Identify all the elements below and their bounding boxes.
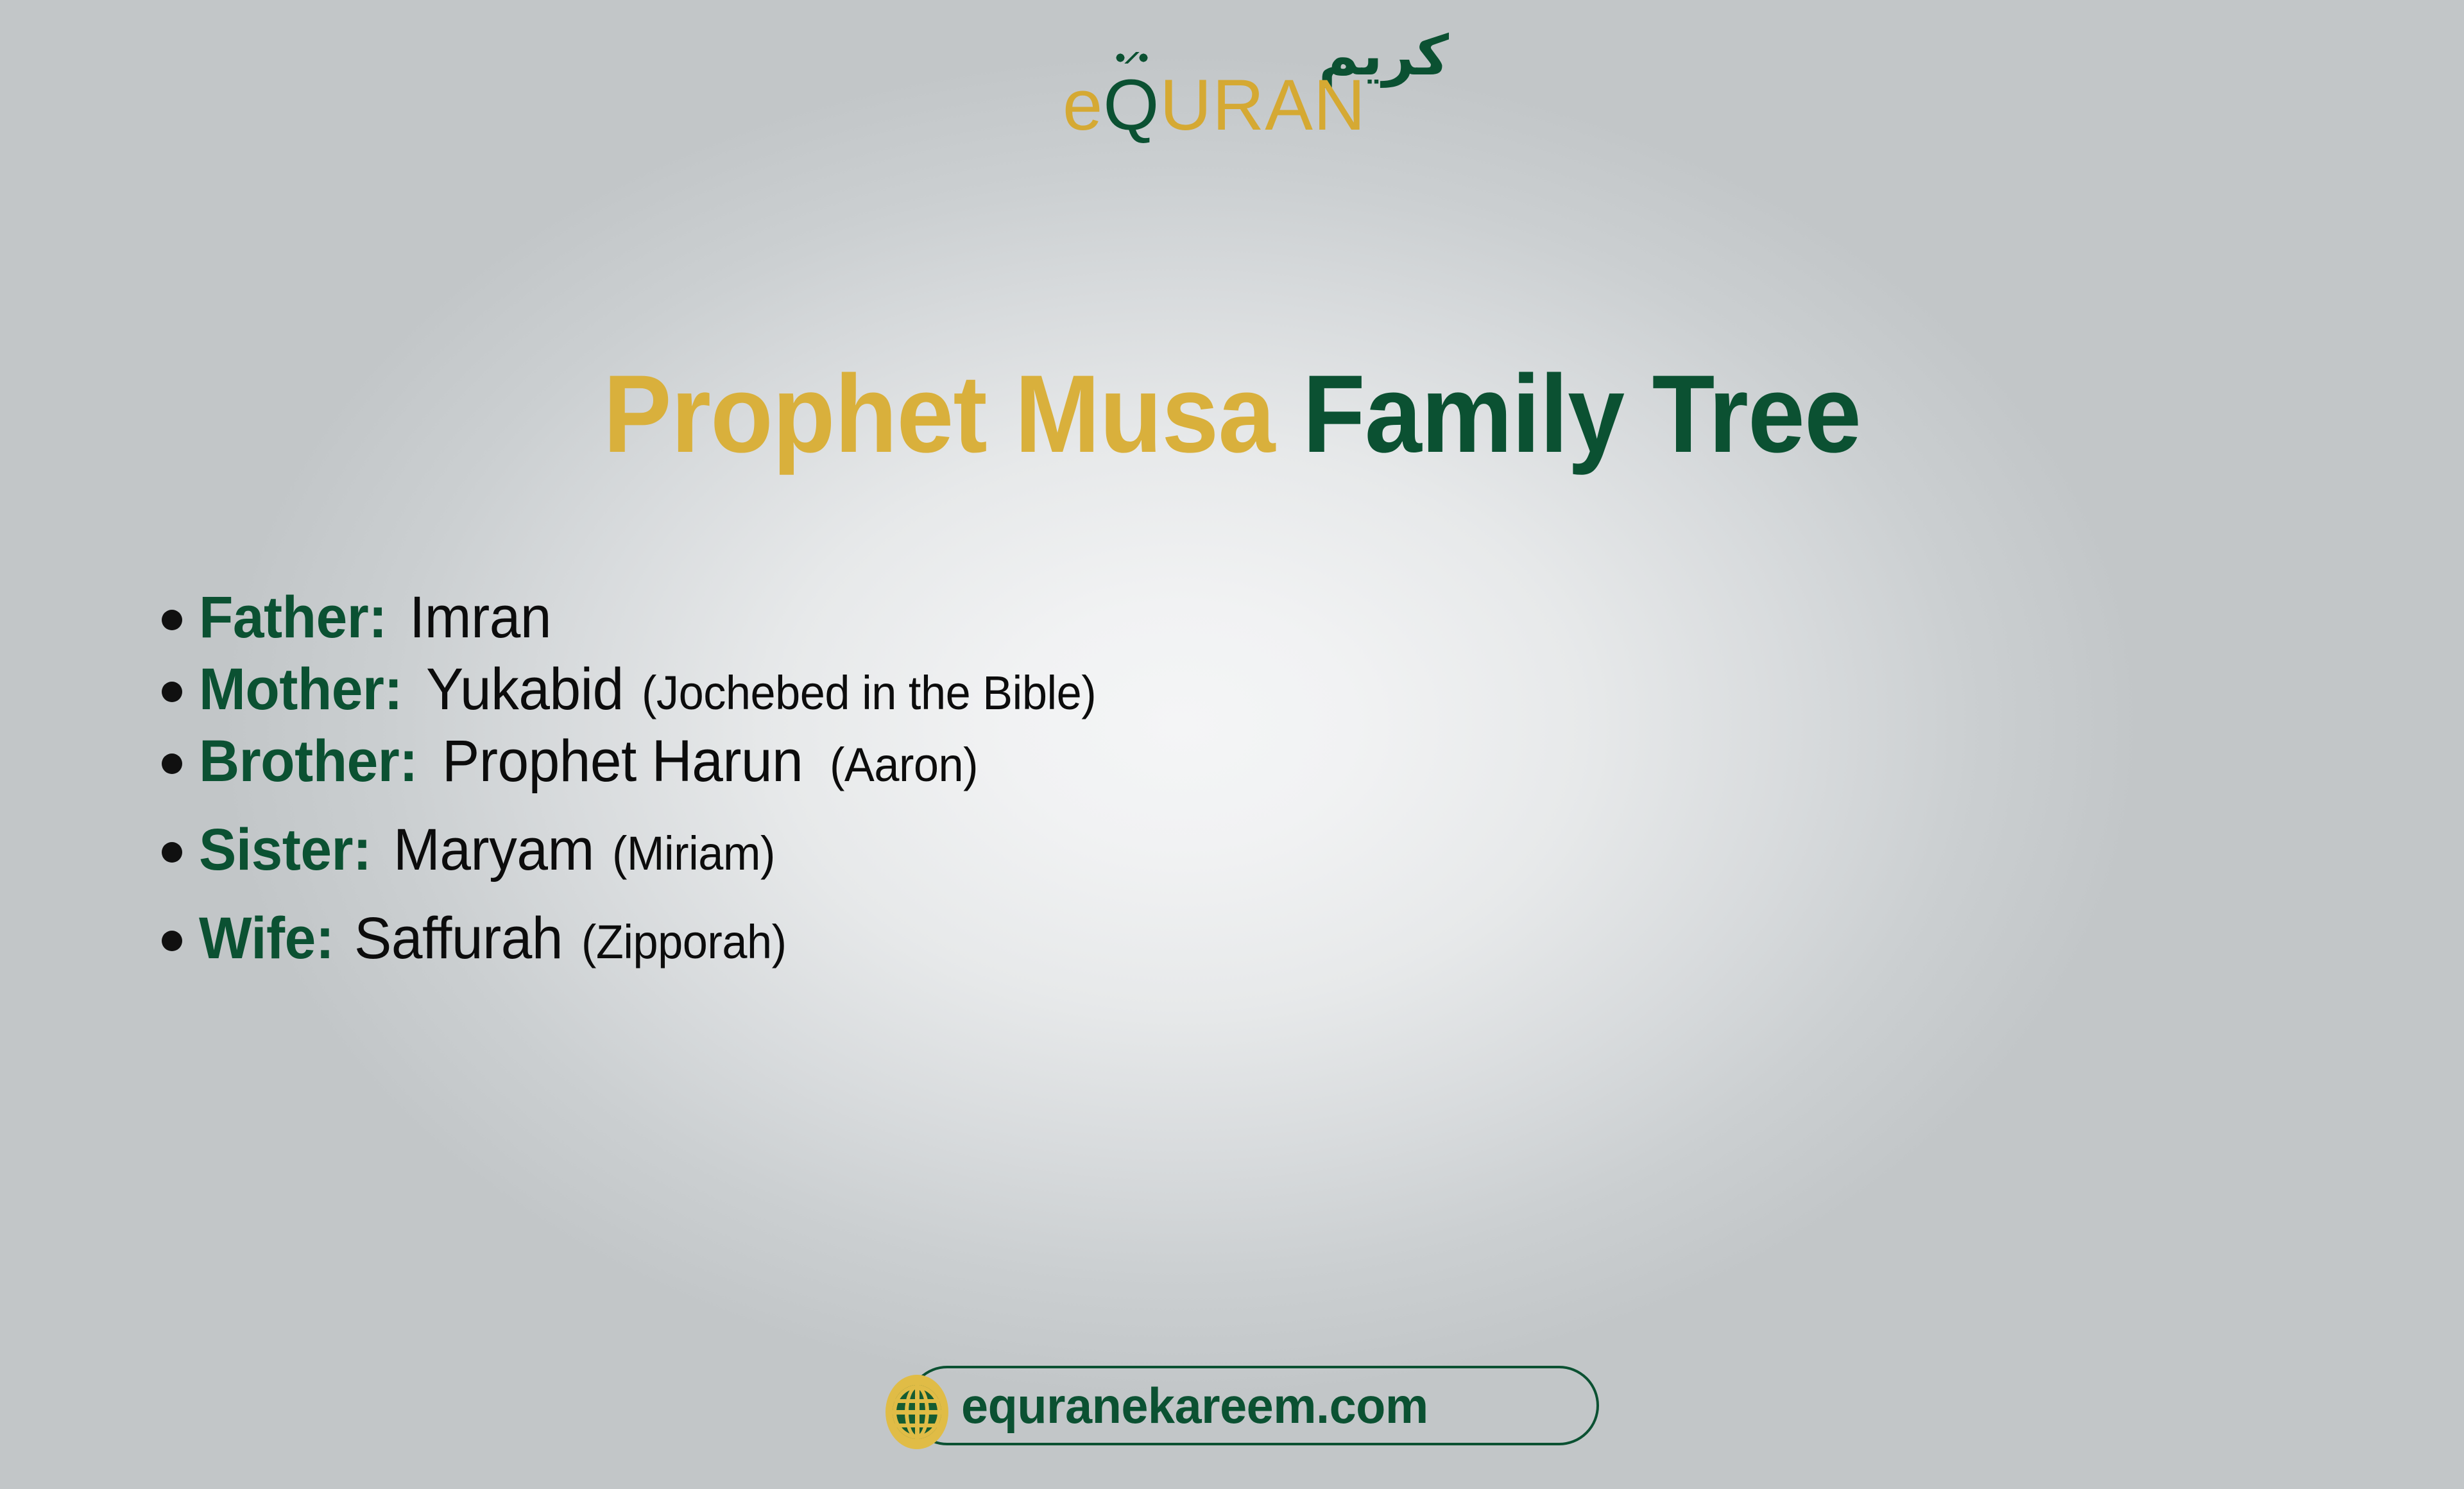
relation-label: Mother: xyxy=(199,660,402,719)
list-item: Sister: Maryam (Miriam) xyxy=(162,820,2215,879)
bullet-icon xyxy=(162,753,182,774)
logo-wordmark: eQURAN xyxy=(1063,69,1366,141)
logo-letter-e: e xyxy=(1063,65,1103,145)
list-item: Brother: Prophet Harun (Aaron) xyxy=(162,732,2215,791)
relation-label: Wife: xyxy=(199,909,334,968)
globe-icon xyxy=(886,1375,948,1449)
list-item: Wife: Saffurah (Zipporah) xyxy=(162,909,2215,968)
slide-canvas: كريم eQURAN Prophet Musa Family Tree Fat… xyxy=(0,0,2464,1489)
globe-icon-body xyxy=(893,1385,941,1439)
page-title: Prophet Musa Family Tree xyxy=(86,356,2377,472)
relation-alt-name: (Aaron) xyxy=(830,741,978,789)
footer-website-badge[interactable]: equranekareem.com xyxy=(886,1366,1603,1447)
relation-alt-name: (Zipporah) xyxy=(581,918,787,966)
relation-value: Imran xyxy=(409,588,551,647)
relation-value: Saffurah xyxy=(354,909,563,968)
globe-icon-latitude-top xyxy=(894,1399,939,1403)
page-title-green: Family Tree xyxy=(1303,352,1861,476)
bullet-icon xyxy=(162,682,182,702)
brand-logo[interactable]: كريم eQURAN xyxy=(1052,28,1450,157)
relation-label: Brother: xyxy=(199,732,418,791)
bullet-icon xyxy=(162,610,182,630)
relation-value: Yukabid xyxy=(426,660,624,719)
bullet-icon xyxy=(162,931,182,951)
logo-letters-uran: URAN xyxy=(1159,65,1365,145)
globe-icon-latitude-bottom xyxy=(894,1424,939,1427)
family-list: Father: Imran Mother: Yukabid (Jochebed … xyxy=(162,588,2215,983)
page-title-gold: Prophet Musa xyxy=(603,352,1274,476)
relation-value: Prophet Harun xyxy=(442,732,803,791)
relation-label: Father: xyxy=(199,588,387,647)
footer-website-url[interactable]: equranekareem.com xyxy=(961,1377,1428,1434)
logo-letter-q: Q xyxy=(1103,65,1159,145)
relation-alt-name: (Jochebed in the Bible) xyxy=(642,669,1096,717)
bullet-icon xyxy=(162,842,182,863)
relation-value: Maryam xyxy=(393,820,594,879)
relation-alt-name: (Miriam) xyxy=(612,830,775,877)
relation-label: Sister: xyxy=(199,820,372,879)
list-item: Father: Imran xyxy=(162,588,2215,647)
list-item: Mother: Yukabid (Jochebed in the Bible) xyxy=(162,660,2215,719)
